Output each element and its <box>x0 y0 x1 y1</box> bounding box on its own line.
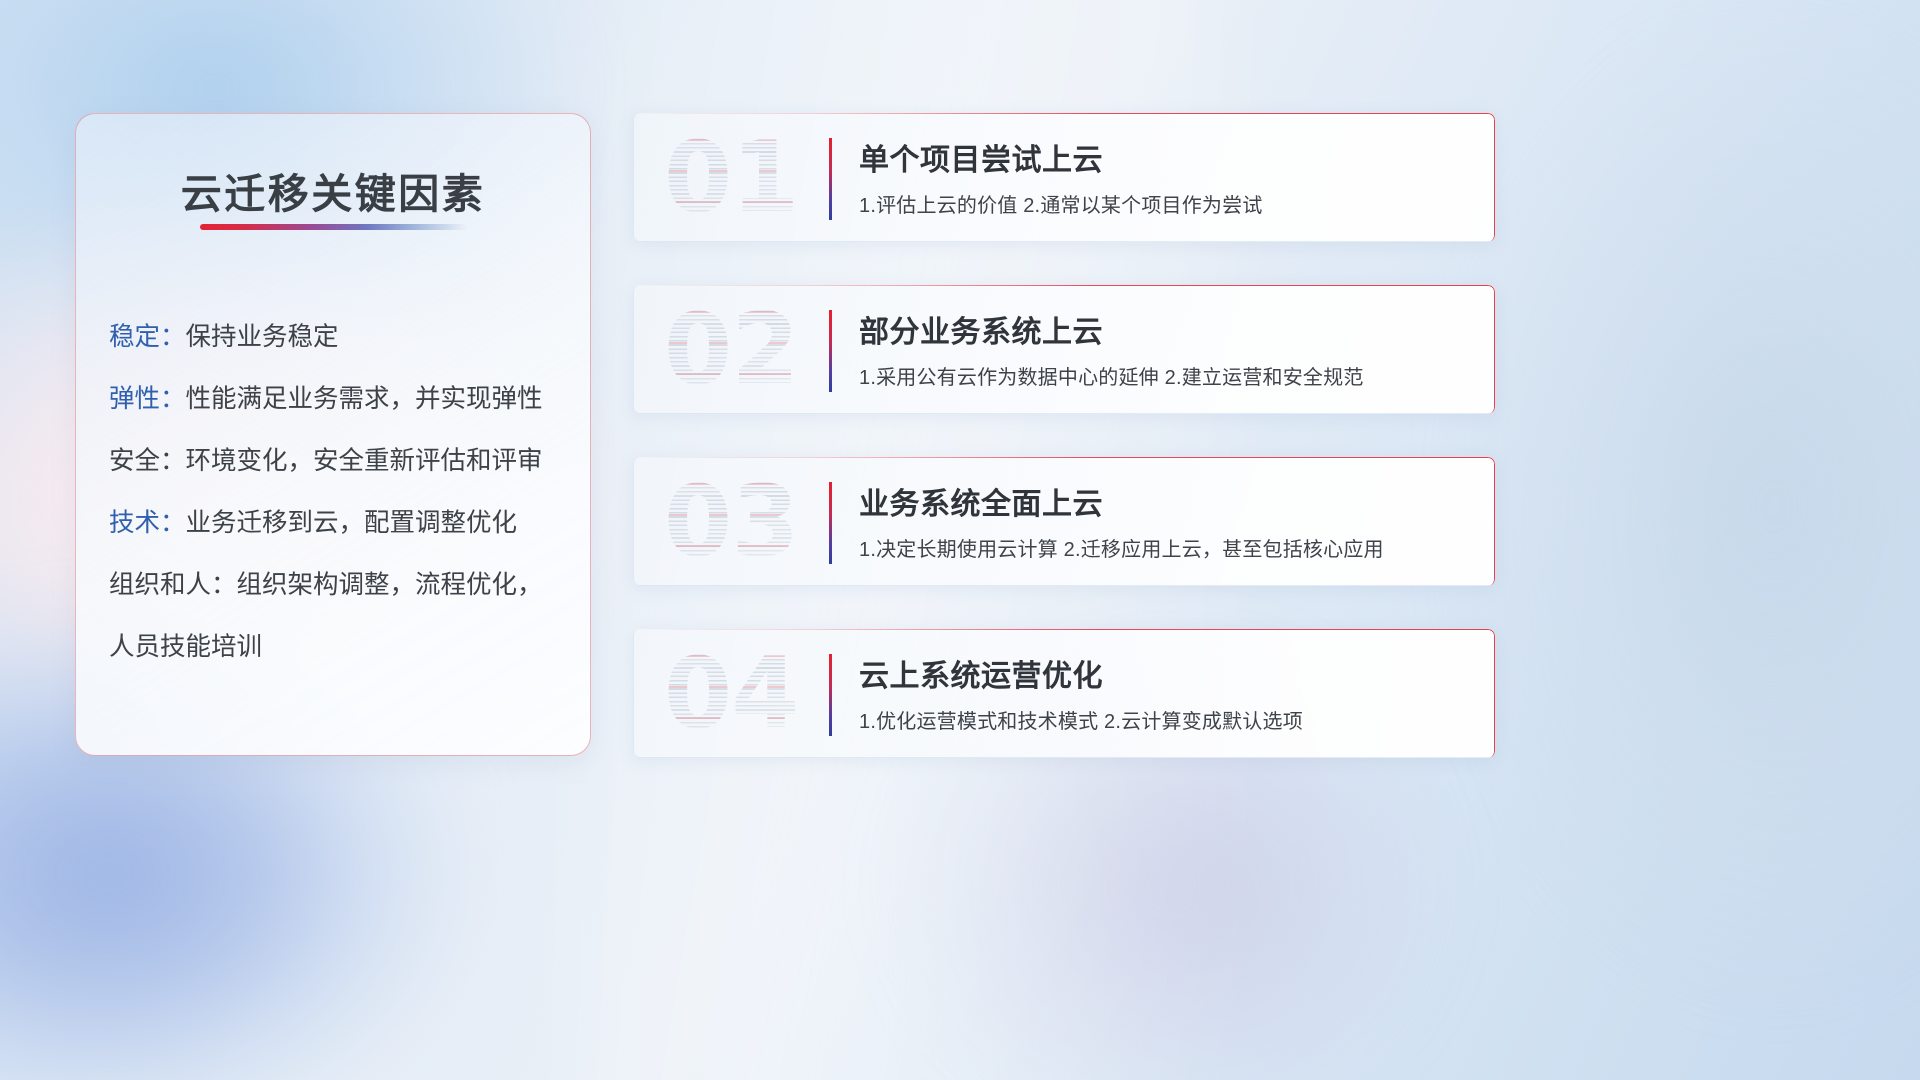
title-underline-rule <box>200 224 468 230</box>
stage-divider-bar <box>829 482 832 564</box>
stage-divider-bar <box>829 138 832 220</box>
stage-card[interactable]: 0101单个项目尝试上云1.评估上云的价值 2.通常以某个项目作为尝试 <box>633 113 1495 242</box>
stage-title: 业务系统全面上云 <box>859 479 1103 523</box>
stage-description: 1.采用公有云作为数据中心的延伸 2.建立运营和安全规范 <box>859 361 1364 390</box>
stage-title: 部分业务系统上云 <box>859 307 1103 351</box>
stage-title: 云上系统运营优化 <box>859 651 1103 695</box>
key-factor-label: 稳定： <box>109 323 186 351</box>
key-factor-item: 组织和人：组织架构调整，流程优化， <box>109 554 566 616</box>
stage-title: 单个项目尝试上云 <box>859 135 1103 179</box>
stage-description: 1.评估上云的价值 2.通常以某个项目作为尝试 <box>859 189 1263 218</box>
key-factor-label: 安全： <box>109 447 186 475</box>
key-factor-text: 性能满足业务需求，并实现弹性 <box>186 385 543 413</box>
stage-number-ghost-accent: 02 <box>664 298 819 402</box>
stage-card[interactable]: 0303业务系统全面上云1.决定长期使用云计算 2.迁移应用上云，甚至包括核心应… <box>633 457 1495 586</box>
stage-number-ghost-accent: 03 <box>664 470 819 574</box>
key-factor-text: 环境变化，安全重新评估和评审 <box>186 447 543 475</box>
key-factor-item: 人员技能培训 <box>109 616 566 678</box>
stage-card[interactable]: 0404云上系统运营优化1.优化运营模式和技术模式 2.云计算变成默认选项 <box>633 629 1495 758</box>
key-factor-label: 组织和人： <box>109 571 237 599</box>
key-factor-item: 技术：业务迁移到云，配置调整优化 <box>109 492 566 554</box>
key-factors-panel: 云迁移关键因素 稳定：保持业务稳定弹性：性能满足业务需求，并实现弹性安全：环境变… <box>75 113 591 756</box>
page-title: 云迁移关键因素 <box>76 160 590 220</box>
stage-divider-bar <box>829 310 832 392</box>
stage-number-ghost-accent: 01 <box>664 126 819 230</box>
key-factor-item: 弹性：性能满足业务需求，并实现弹性 <box>109 368 566 430</box>
key-factor-text: 组织架构调整，流程优化， <box>237 571 543 599</box>
key-factor-label: 技术： <box>109 509 186 537</box>
key-factors-list: 稳定：保持业务稳定弹性：性能满足业务需求，并实现弹性安全：环境变化，安全重新评估… <box>109 306 566 678</box>
stage-number-ghost-accent: 04 <box>664 642 819 746</box>
stage-description: 1.优化运营模式和技术模式 2.云计算变成默认选项 <box>859 705 1303 734</box>
slide-root: 云迁移关键因素 稳定：保持业务稳定弹性：性能满足业务需求，并实现弹性安全：环境变… <box>0 0 1920 1080</box>
key-factor-text: 保持业务稳定 <box>186 323 339 351</box>
key-factor-item: 稳定：保持业务稳定 <box>109 306 566 368</box>
stage-card[interactable]: 0202部分业务系统上云1.采用公有云作为数据中心的延伸 2.建立运营和安全规范 <box>633 285 1495 414</box>
key-factor-item: 安全：环境变化，安全重新评估和评审 <box>109 430 566 492</box>
stage-divider-bar <box>829 654 832 736</box>
stage-card-list: 0101单个项目尝试上云1.评估上云的价值 2.通常以某个项目作为尝试0202部… <box>633 113 1495 758</box>
key-factor-label: 弹性： <box>109 385 186 413</box>
key-factor-text: 人员技能培训 <box>109 633 262 661</box>
stage-description: 1.决定长期使用云计算 2.迁移应用上云，甚至包括核心应用 <box>859 533 1384 562</box>
key-factor-text: 业务迁移到云，配置调整优化 <box>186 509 518 537</box>
